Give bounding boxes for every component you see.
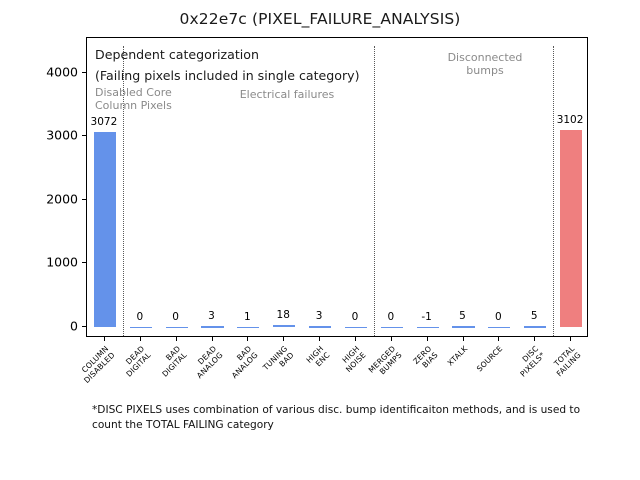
x-tick-mark <box>140 337 141 341</box>
x-tick-mark <box>534 337 535 341</box>
bar <box>452 326 474 327</box>
bar <box>94 132 116 327</box>
x-tick-mark <box>391 337 392 341</box>
bar-value-label: 5 <box>459 310 466 322</box>
bar-value-label: -1 <box>421 311 431 323</box>
x-tick-mark <box>247 337 248 341</box>
bar <box>524 326 546 327</box>
x-tick-mark <box>319 337 320 341</box>
bar-value-label: 0 <box>136 311 143 323</box>
separator-line <box>553 46 554 337</box>
bar-value-label: 3 <box>316 310 323 322</box>
y-tick-label: 1000 <box>0 255 86 270</box>
bar-value-label: 5 <box>531 310 538 322</box>
bar-value-label: 3 <box>208 310 215 322</box>
bar <box>130 327 152 328</box>
annotation-heading: Dependent categorization <box>95 44 425 65</box>
bar-value-label: 18 <box>277 309 290 321</box>
annotation-group-label: Disconnected bumps <box>405 51 565 77</box>
x-tick-mark <box>104 337 105 341</box>
bar <box>345 327 367 328</box>
y-tick-label: 0 <box>0 318 86 333</box>
annotation-group-label: Disabled Core Column Pixels <box>95 86 205 112</box>
bar <box>417 327 439 328</box>
bar-value-label: 3072 <box>91 116 118 128</box>
figure: 0x22e7c (PIXEL_FAILURE_ANALYSIS) Number … <box>0 0 640 480</box>
y-tick-label: 2000 <box>0 191 86 206</box>
x-tick-mark <box>498 337 499 341</box>
bar <box>309 326 331 327</box>
x-tick-mark <box>463 337 464 341</box>
x-tick-mark <box>570 337 571 341</box>
x-tick-mark <box>212 337 213 341</box>
bar <box>273 325 295 326</box>
y-tick-label: 4000 <box>0 64 86 79</box>
y-tick-label: 3000 <box>0 128 86 143</box>
footnote: *DISC PIXELS uses combination of various… <box>92 403 592 432</box>
bar-value-label: 0 <box>172 311 179 323</box>
x-tick-mark <box>283 337 284 341</box>
bar-value-label: 0 <box>387 311 394 323</box>
bar <box>488 327 510 328</box>
x-tick-mark <box>355 337 356 341</box>
bar-value-label: 3102 <box>557 114 584 126</box>
chart-title: 0x22e7c (PIXEL_FAILURE_ANALYSIS) <box>0 10 640 28</box>
bar-value-label: 0 <box>352 311 359 323</box>
bar <box>201 326 223 327</box>
bar <box>381 327 403 328</box>
bar <box>237 327 259 328</box>
bar-value-label: 1 <box>244 311 251 323</box>
plot-area: Dependent categorization(Failing pixels … <box>86 37 588 337</box>
bar <box>560 130 582 327</box>
x-tick-mark <box>427 337 428 341</box>
x-tick-mark <box>176 337 177 341</box>
bar-value-label: 0 <box>495 311 502 323</box>
bar <box>166 327 188 328</box>
annotation-group-label: Electrical failures <box>197 88 377 101</box>
